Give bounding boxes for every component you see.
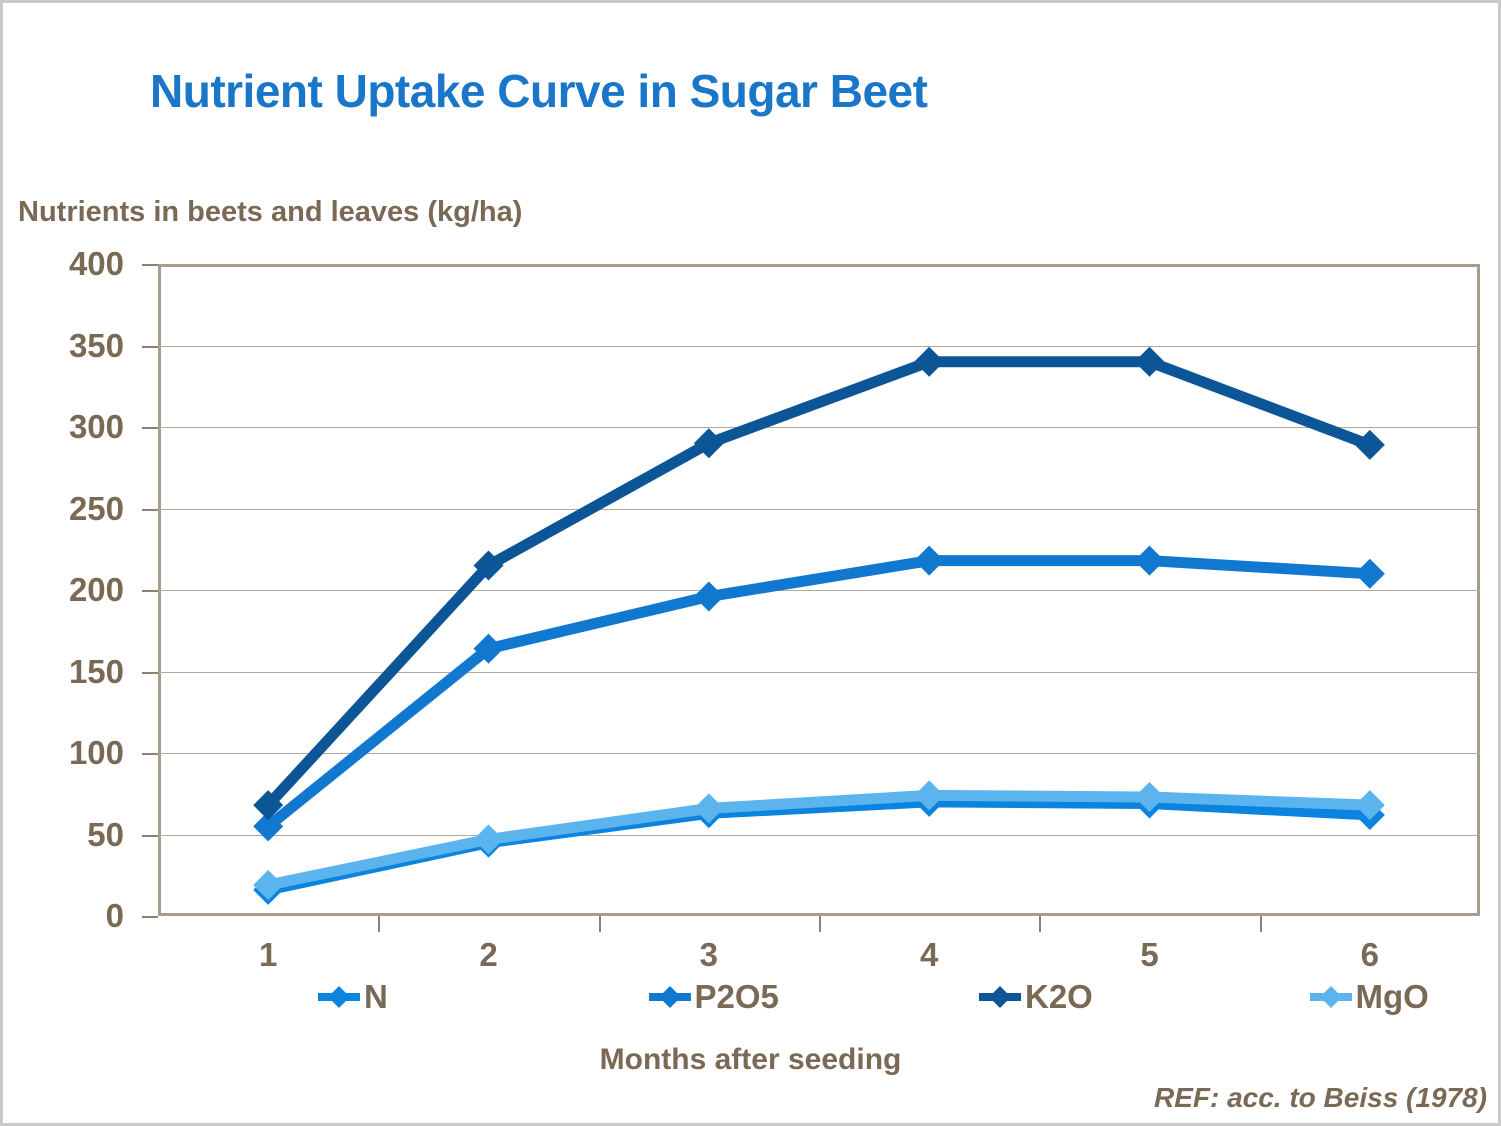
x-tick-mark <box>1260 916 1262 932</box>
y-tick-mark <box>142 672 158 674</box>
gridline <box>158 835 1480 836</box>
y-tick-label: 400 <box>4 245 124 283</box>
legend-label: N <box>364 978 388 1016</box>
x-tick-mark <box>599 916 601 932</box>
x-tick-label: 5 <box>1140 936 1158 974</box>
legend-item-n[interactable]: N <box>158 978 489 1016</box>
page-title: Nutrient Uptake Curve in Sugar Beet <box>150 64 927 118</box>
y-tick-label: 350 <box>4 327 124 365</box>
y-tick-mark <box>142 264 158 266</box>
y-tick-label: 250 <box>4 490 124 528</box>
y-tick-mark <box>142 753 158 755</box>
legend-marker-icon <box>1310 984 1352 1010</box>
y-tick-label: 300 <box>4 408 124 446</box>
gridline <box>158 590 1480 591</box>
x-tick-mark <box>819 916 821 932</box>
x-tick-label: 3 <box>700 936 718 974</box>
y-axis-title: Nutrients in beets and leaves (kg/ha) <box>18 196 522 229</box>
x-tick-mark <box>378 916 380 932</box>
y-tick-label: 0 <box>4 897 124 935</box>
gridline <box>158 509 1480 510</box>
y-tick-mark <box>142 346 158 348</box>
legend-marker-icon <box>979 984 1021 1010</box>
legend-item-k2o[interactable]: K2O <box>819 978 1150 1016</box>
x-tick-label: 4 <box>920 936 938 974</box>
legend-label: P2O5 <box>695 978 779 1016</box>
legend-item-p2o5[interactable]: P2O5 <box>489 978 820 1016</box>
x-tick-label: 6 <box>1361 936 1379 974</box>
gridline <box>158 427 1480 428</box>
y-tick-label: 200 <box>4 571 124 609</box>
y-tick-label: 100 <box>4 734 124 772</box>
legend-marker-icon <box>318 984 360 1010</box>
legend-label: MgO <box>1356 978 1429 1016</box>
gridline <box>158 346 1480 347</box>
y-tick-label: 150 <box>4 653 124 691</box>
gridline <box>158 753 1480 754</box>
y-tick-mark <box>142 427 158 429</box>
legend-label: K2O <box>1025 978 1093 1016</box>
y-tick-mark <box>142 590 158 592</box>
y-tick-label: 50 <box>4 816 124 854</box>
gridline <box>158 672 1480 673</box>
y-tick-mark <box>142 509 158 511</box>
legend-item-mgo[interactable]: MgO <box>1150 978 1481 1016</box>
x-tick-label: 1 <box>259 936 277 974</box>
plot-area-wrapper: 400350300250200150100500 123456 <box>158 264 1480 916</box>
y-tick-mark <box>142 916 158 918</box>
chart-legend: NP2O5K2OMgO <box>158 978 1480 1016</box>
y-tick-mark <box>142 835 158 837</box>
legend-marker-icon <box>649 984 691 1010</box>
x-tick-label: 2 <box>479 936 497 974</box>
source-reference: REF: acc. to Beiss (1978) <box>1154 1082 1487 1114</box>
x-tick-mark <box>1039 916 1041 932</box>
x-axis-title: Months after seeding <box>0 1043 1501 1077</box>
